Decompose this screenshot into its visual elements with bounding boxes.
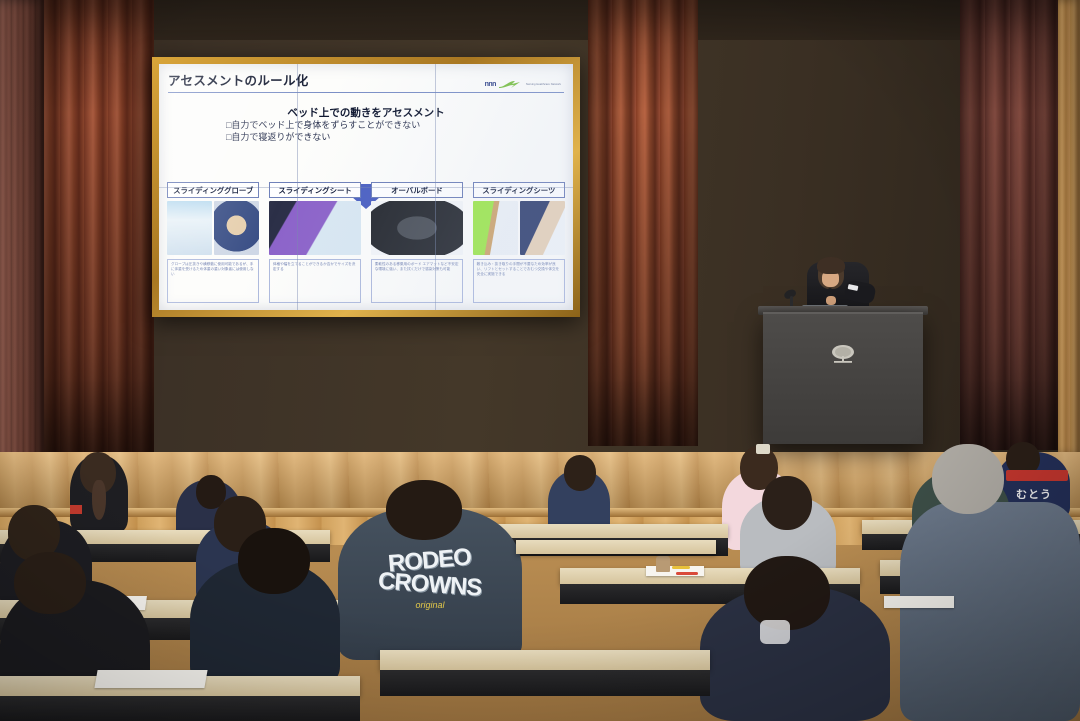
product-card: スライディンググローブ グローブは圧抜きや横移動に使用可能であるが、手に体重を受… bbox=[167, 182, 259, 303]
product-description: グローブは圧抜きや横移動に使用可能であるが、手に体重を受けるため体重の重い対象者… bbox=[167, 259, 259, 303]
jacket-collar-stripe bbox=[1006, 470, 1068, 481]
desk-row bbox=[516, 540, 716, 554]
stage-curtain-middle bbox=[588, 0, 698, 446]
product-label: スライディングシート bbox=[269, 182, 361, 198]
logo-tagline: Nursing Healthcare Network bbox=[526, 83, 561, 86]
audience-head bbox=[744, 556, 830, 630]
speaker-hair bbox=[817, 257, 845, 274]
presentation-screen: アセスメントのルール化 nnn Nursing Healthcare Netwo… bbox=[152, 57, 580, 317]
desk-row bbox=[380, 650, 710, 670]
handout-paper bbox=[94, 670, 207, 688]
title-underline bbox=[168, 92, 564, 93]
podium bbox=[763, 312, 923, 444]
desk-panel bbox=[380, 670, 710, 696]
audience-head bbox=[14, 552, 86, 614]
product-card: スライディングシーツ 敷き込み・抜き取りの手間が不要なため効率が良い、リフトとセ… bbox=[473, 182, 565, 303]
product-card: スライディングシート 体格や幅を立てることができるか否かでサイズを決定する bbox=[269, 182, 361, 303]
jacket-text: むとう bbox=[1016, 486, 1052, 502]
pen bbox=[676, 572, 698, 575]
product-description: 柔軟性のある移乗用のボード エアマットなど不安定な環境に強い、また拭くだけで感染… bbox=[371, 259, 463, 303]
speaker-hand bbox=[826, 296, 836, 305]
audience-head bbox=[386, 480, 462, 540]
face-mask bbox=[760, 620, 790, 644]
audience-head bbox=[564, 455, 596, 491]
handout-paper bbox=[884, 596, 954, 608]
marker bbox=[672, 566, 690, 569]
audience-head bbox=[762, 476, 812, 530]
stage-curtain-right bbox=[960, 0, 1060, 450]
badge bbox=[70, 505, 82, 514]
desk-panel bbox=[0, 696, 360, 721]
organization-logo: nnn Nursing Healthcare Network bbox=[485, 80, 561, 89]
product-card-row: スライディンググローブ グローブは圧抜きや横移動に使用可能であるが、手に体重を受… bbox=[167, 182, 565, 303]
hair-clip bbox=[756, 444, 770, 454]
product-card: オーバルボード 柔軟性のある移乗用のボード エアマットなど不安定な環境に強い、ま… bbox=[371, 182, 463, 303]
audience-head-grey-hair bbox=[932, 444, 1004, 514]
wood-pillar-left bbox=[0, 0, 44, 466]
desk-row bbox=[478, 524, 728, 538]
product-label: スライディングシーツ bbox=[473, 182, 565, 198]
screen-panel: アセスメントのルール化 nnn Nursing Healthcare Netwo… bbox=[159, 64, 573, 310]
product-description: 敷き込み・抜き取りの手間が不要なため効率が良い、リフトとセットすることでおむつ交… bbox=[473, 259, 565, 303]
product-image bbox=[473, 201, 565, 255]
product-image bbox=[269, 201, 361, 255]
product-label: オーバルボード bbox=[371, 182, 463, 198]
stage-curtain-left bbox=[36, 0, 154, 452]
product-label: スライディンググローブ bbox=[167, 182, 259, 198]
audience-person-puffer-jacket bbox=[900, 502, 1080, 721]
slide-heading: ベッド上での動きをアセスメント bbox=[168, 105, 564, 120]
audience-head bbox=[238, 528, 310, 594]
lecture-hall-photo: アセスメントのルール化 nnn Nursing Healthcare Netwo… bbox=[0, 0, 1080, 721]
desk-ornament bbox=[656, 556, 670, 572]
product-image bbox=[371, 201, 463, 255]
wood-pillar-right bbox=[1058, 0, 1080, 455]
tree-emblem-icon bbox=[829, 344, 857, 366]
ponytail bbox=[92, 480, 106, 520]
logo-swoosh-icon bbox=[498, 80, 524, 89]
upper-wall-shadow bbox=[0, 0, 1080, 40]
product-image bbox=[167, 201, 259, 255]
checkbox-item-1: □自力でベッド上で身体をずらすことができない bbox=[226, 120, 564, 132]
product-description: 体格や幅を立てることができるか否かでサイズを決定する bbox=[269, 259, 361, 303]
logo-text: nnn bbox=[485, 81, 496, 88]
checkbox-item-2: □自力で寝返りができない bbox=[226, 132, 564, 144]
